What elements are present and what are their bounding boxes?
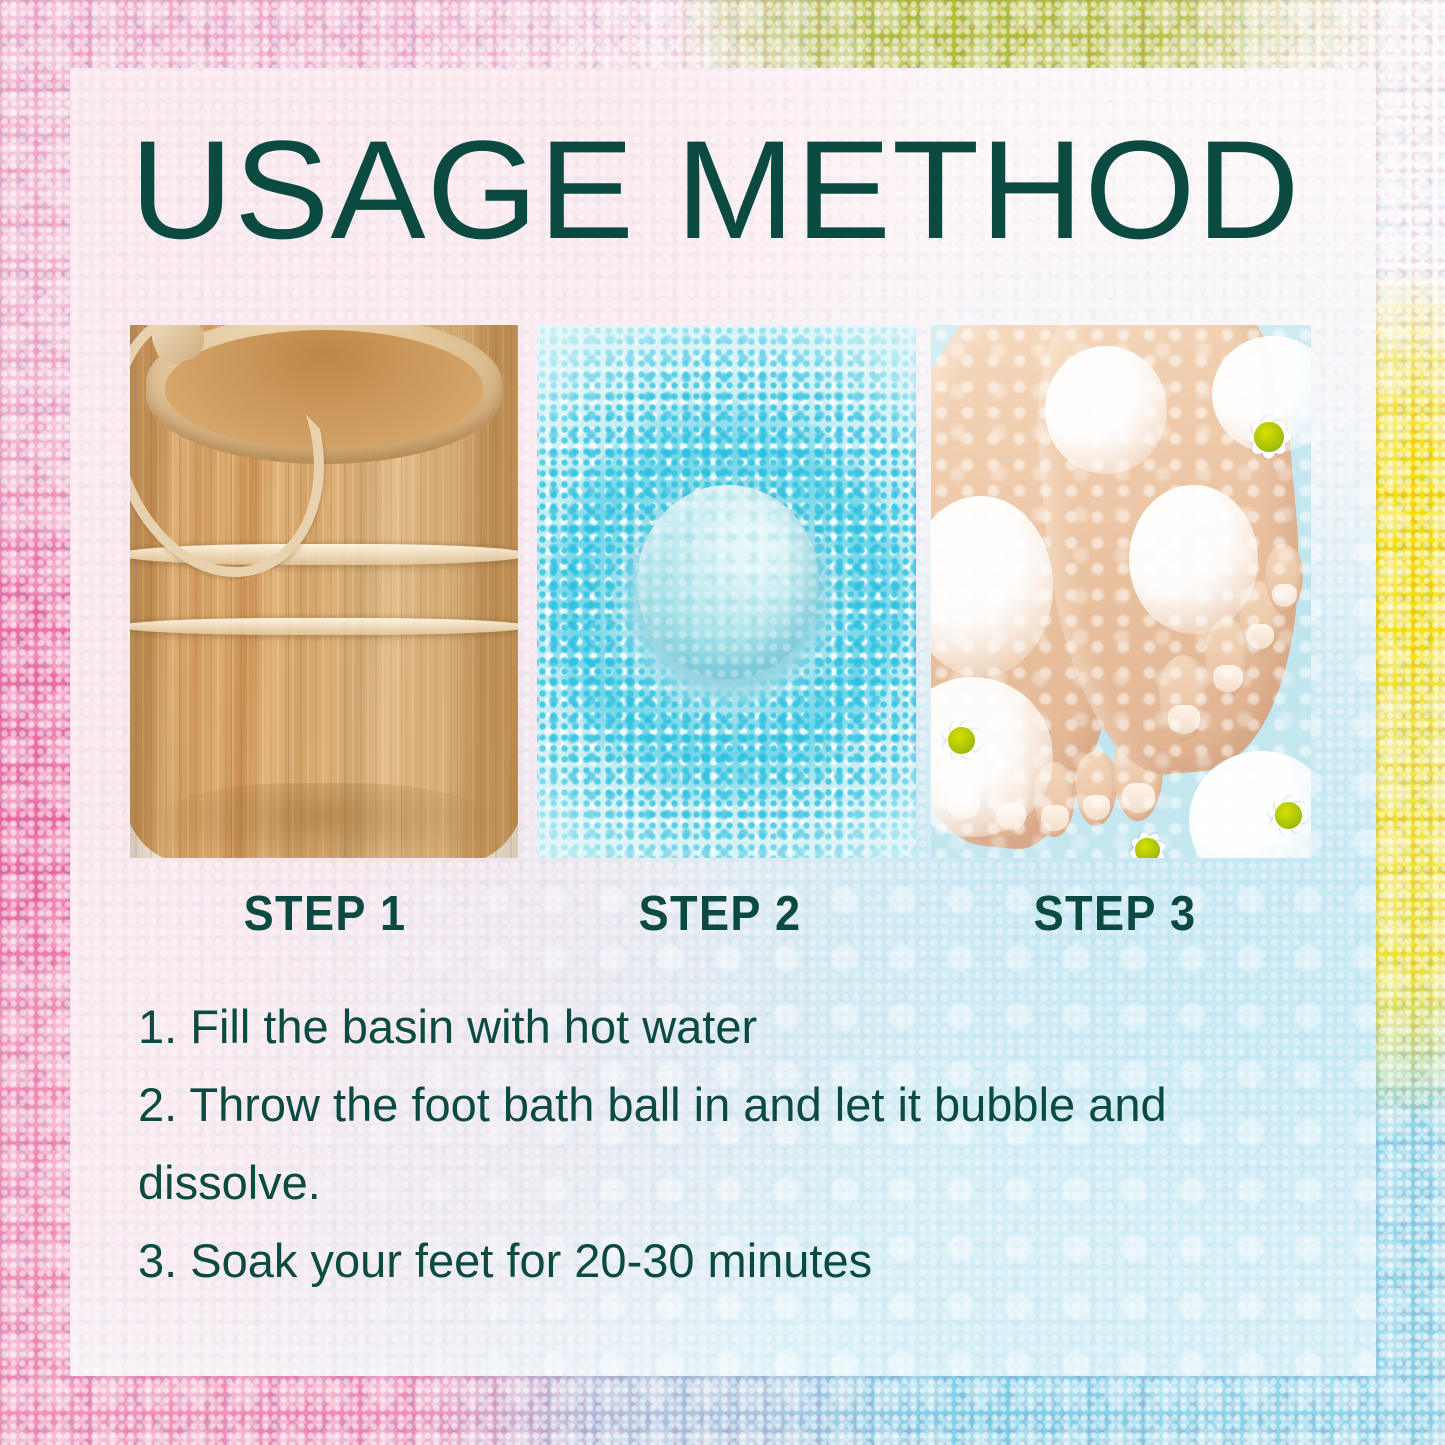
daisy-flower: [1113, 815, 1181, 858]
instructions-list: 1. Fill the basin with hot water 2. Thro…: [138, 988, 1338, 1300]
instruction-line: dissolve.: [138, 1144, 1338, 1222]
step-3-image: [931, 325, 1311, 858]
daisy-center: [1135, 838, 1160, 858]
usage-method-infographic: USAGE METHOD: [0, 0, 1445, 1445]
daisy-flower: [1227, 394, 1311, 479]
step-3-label: STEP 3: [982, 886, 1249, 942]
step-2-image: [537, 325, 916, 858]
feet-soaking-scene: [931, 325, 1311, 858]
instruction-line: 2. Throw the foot bath ball in and let i…: [138, 1066, 1338, 1144]
step-1-image: [130, 325, 518, 858]
step-1-label: STEP 1: [192, 886, 459, 942]
content-panel: USAGE METHOD: [70, 68, 1376, 1376]
bath-bomb-scene: [537, 325, 916, 858]
daisy-flower: [931, 703, 999, 778]
daisy-center: [1275, 802, 1302, 829]
bucket-bottom-shadow: [142, 783, 507, 858]
bucket-band-lower: [130, 618, 518, 635]
bath-bomb-texture: [637, 485, 819, 680]
step-2-label: STEP 2: [587, 886, 854, 942]
daisy-center: [948, 727, 975, 754]
bath-bomb-ball: [637, 485, 819, 680]
wooden-basin-scene: [130, 325, 518, 858]
instruction-line: 3. Soak your feet for 20-30 minutes: [138, 1222, 1338, 1300]
instruction-line: 1. Fill the basin with hot water: [138, 988, 1338, 1066]
daisy-flower: [1250, 778, 1311, 853]
page-title: USAGE METHOD: [130, 120, 1344, 260]
